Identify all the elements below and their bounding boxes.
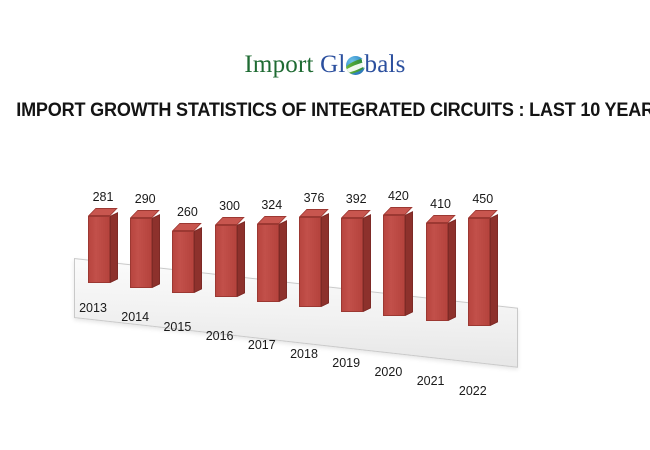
chart-plot-area: 281290260300324376392420410450 201320142…: [0, 150, 650, 380]
bar-value-label: 300: [210, 199, 250, 213]
bar-column[interactable]: [341, 210, 371, 312]
bar-value-label: 324: [252, 198, 292, 212]
year-label-2021: 2021: [411, 374, 451, 388]
bar-column[interactable]: [130, 210, 160, 288]
bar-value-label: 420: [378, 189, 418, 203]
bar-front-face: [172, 231, 194, 293]
bar-front-face: [383, 215, 405, 316]
bar-value-label: 376: [294, 191, 334, 205]
bar-side-face: [405, 211, 413, 316]
bar-column[interactable]: [426, 215, 456, 321]
year-label-2018: 2018: [284, 347, 324, 361]
chart-title: IMPORT GROWTH STATISTICS OF INTEGRATED C…: [16, 100, 634, 122]
bar-front-face: [88, 216, 110, 283]
bar-column[interactable]: [88, 208, 118, 283]
year-label-2020: 2020: [368, 365, 408, 379]
bar-front-face: [341, 218, 363, 312]
bar-side-face: [279, 220, 287, 302]
brand-logo-gl-text: Gl: [320, 51, 345, 78]
bar-front-face: [426, 223, 448, 321]
bar-value-label: 281: [83, 190, 123, 204]
bar-front-face: [257, 224, 279, 302]
brand-logo: Import Glbals: [0, 50, 650, 84]
bar-column[interactable]: [215, 217, 245, 297]
brand-logo-bals-text: bals: [365, 51, 406, 78]
bar-side-face: [237, 222, 245, 298]
bar-front-face: [299, 217, 321, 307]
bar-side-face: [321, 213, 329, 307]
year-label-2019: 2019: [326, 356, 366, 370]
year-label-2013: 2013: [73, 301, 113, 315]
bar-column[interactable]: [299, 209, 329, 307]
year-label-2016: 2016: [200, 329, 240, 343]
brand-logo-import-text: Import: [244, 51, 313, 78]
globe-icon: [346, 56, 365, 75]
bar-front-face: [130, 218, 152, 288]
bar-value-label: 290: [125, 192, 165, 206]
bar-front-face: [215, 225, 237, 297]
bar-column[interactable]: [257, 216, 287, 302]
year-label-2014: 2014: [115, 310, 155, 324]
bar-value-label: 392: [336, 192, 376, 206]
bar-column[interactable]: [468, 210, 498, 326]
bar-column[interactable]: [172, 223, 202, 293]
bar-side-face: [363, 214, 371, 312]
bar-side-face: [448, 219, 456, 321]
brand-logo-wordmark: Import Glbals: [244, 50, 405, 80]
year-label-2015: 2015: [157, 320, 197, 334]
bar-front-face: [468, 218, 490, 326]
bar-side-face: [194, 227, 202, 293]
bar-side-face: [490, 214, 498, 326]
bar-side-face: [110, 212, 118, 283]
bar-column[interactable]: [383, 207, 413, 316]
bar-value-label: 450: [463, 192, 503, 206]
bar-value-label: 260: [167, 205, 207, 219]
bar-value-label: 410: [421, 197, 461, 211]
bar-side-face: [152, 214, 160, 288]
year-label-2017: 2017: [242, 338, 282, 352]
year-label-2022: 2022: [453, 384, 493, 398]
